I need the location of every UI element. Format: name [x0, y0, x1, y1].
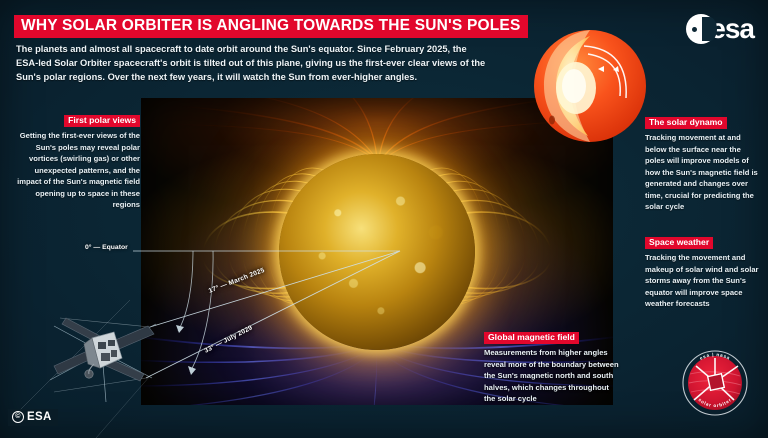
page-title: WHY SOLAR ORBITER IS ANGLING TOWARDS THE…	[14, 15, 528, 38]
callout-solar-dynamo: The solar dynamo Tracking movement at an…	[645, 112, 761, 213]
sun-surface-texture	[279, 154, 475, 350]
callout-tag-space-weather: Space weather	[645, 237, 713, 250]
callout-first-polar-views: First polar views Getting the first-ever…	[8, 110, 140, 211]
callout-tag-global-magnetic-field: Global magnetic field	[484, 332, 579, 345]
copyright-icon: ©	[12, 411, 24, 423]
equator-angle-label: 0° — Equator	[85, 244, 128, 251]
callout-global-magnetic-field: Global magnetic field Measurements from …	[484, 327, 620, 405]
sun-disc	[279, 154, 475, 350]
page-subtitle: The planets and almost all spacecraft to…	[16, 43, 486, 84]
solar-orbiter-mission-patch: esa | nasa solar orbiter	[676, 344, 754, 422]
callout-body-solar-dynamo: Tracking movement at and below the surfa…	[645, 132, 761, 213]
sun-interior-cutaway-diagram	[530, 24, 654, 150]
callout-space-weather: Space weather Tracking the movement and …	[645, 232, 761, 310]
callout-body-first-polar-views: Getting the first-ever views of the Sun'…	[8, 130, 140, 211]
callout-tag-first-polar-views: First polar views	[64, 115, 140, 128]
callout-body-global-magnetic-field: Measurements from higher angles reveal m…	[484, 347, 620, 405]
page-title-text: WHY SOLAR ORBITER IS ANGLING TOWARDS THE…	[21, 18, 521, 34]
esa-globe-icon	[686, 14, 716, 44]
callout-tag-solar-dynamo: The solar dynamo	[645, 117, 727, 130]
callout-body-space-weather: Tracking the movement and makeup of sola…	[645, 252, 761, 310]
solar-orbiter-spacecraft-icon	[44, 302, 160, 406]
esa-logo: esa	[686, 14, 754, 44]
infographic-canvas: 0° — Equator 17° — March 2025 33° — July…	[0, 0, 768, 438]
copyright-watermark: © ESA	[8, 409, 58, 426]
copyright-label: ESA	[27, 411, 52, 423]
